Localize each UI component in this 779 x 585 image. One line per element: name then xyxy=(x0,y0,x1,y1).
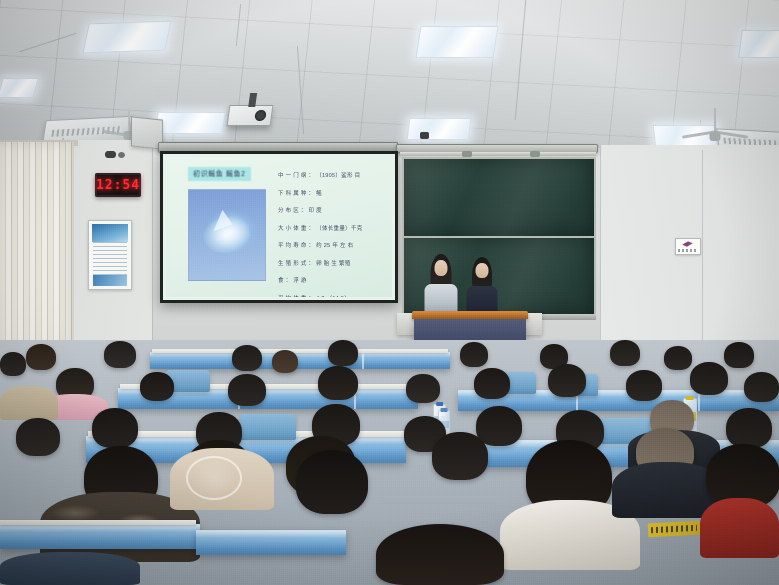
wall-corner-seam xyxy=(152,140,153,360)
hoodie-graphic-print xyxy=(186,456,242,500)
audience-head xyxy=(16,418,60,456)
exit-sign-arrow-icon xyxy=(682,241,693,246)
lecture-hall-photo: 12:54 初识鳐鱼 鳐鱼2 中 一 门 纲 ： （1905）鲨形 目 下 科 … xyxy=(0,0,779,585)
slide-title: 初识鳐鱼 鳐鱼2 xyxy=(188,167,251,181)
audience-head xyxy=(228,374,266,406)
slide-line: 大 小 体 重 ： （体长重量）千克 xyxy=(278,224,382,232)
blackboard-top-rail xyxy=(400,152,596,156)
ceiling-fan xyxy=(694,108,736,146)
bottle-cap xyxy=(441,408,448,412)
podium-worktop xyxy=(412,311,528,319)
security-camera-base xyxy=(118,152,125,158)
audience-head xyxy=(626,370,662,401)
exit-sign-text xyxy=(678,249,697,252)
ceiling-projector xyxy=(227,105,274,126)
slide-line-boxed: 分 布 区 ： 印 度 xyxy=(278,206,382,214)
ceiling-light-panel xyxy=(82,21,171,54)
desk-writing-surface xyxy=(152,349,448,353)
poster-header-band xyxy=(92,224,128,242)
ceiling-light-panel xyxy=(415,26,498,58)
tag-text xyxy=(651,525,697,533)
desk-writing-surface xyxy=(0,520,196,525)
audience-head-foreground xyxy=(296,450,368,514)
emergency-exit-sign xyxy=(675,238,701,255)
slide-line-boxed: 生 殖 形 式 ： 卵 胎 生 繁殖 xyxy=(278,259,382,267)
audience-head xyxy=(664,346,692,370)
vertical-window-blinds xyxy=(0,142,74,357)
audience-head xyxy=(272,350,298,373)
bottle-cap xyxy=(436,402,444,406)
slide-line: 平 均 体 重 ： 4.2 （14.5） xyxy=(278,294,382,298)
slide-line: 下 科 属 种 ： 鳐 xyxy=(278,189,382,197)
ceiling-light-panel xyxy=(738,30,779,58)
audience-head xyxy=(726,408,772,448)
clock-time-display: 12:54 xyxy=(96,178,140,193)
slide-line-label: 生 殖 形 式 ： 卵 胎 生 繁殖 xyxy=(278,261,351,267)
slide-photo-manta-ray xyxy=(188,189,266,281)
security-camera xyxy=(105,151,116,158)
ceiling-sensor xyxy=(420,132,429,139)
presenter-head xyxy=(435,260,448,276)
seat-back xyxy=(240,414,296,440)
presentation-slide: 初识鳐鱼 鳐鱼2 中 一 门 纲 ： （1905）鲨形 目 下 科 属 种 ： … xyxy=(166,157,392,297)
audience-head xyxy=(92,408,138,448)
presenter-right xyxy=(466,259,498,318)
audience-head-foreground xyxy=(432,432,488,480)
wall-corner-seam xyxy=(600,145,601,360)
audience-head xyxy=(744,372,779,402)
desk-edge-highlight xyxy=(150,353,450,357)
audience-head xyxy=(104,341,136,368)
ceiling-light-panel xyxy=(154,112,226,134)
wall-corner-seam xyxy=(702,150,703,350)
desk-seam xyxy=(362,353,364,369)
projector-mount xyxy=(248,93,257,107)
audience-head xyxy=(460,342,488,367)
yellow-id-tag xyxy=(648,521,701,538)
audience-head xyxy=(0,352,26,376)
wall-notice-poster xyxy=(88,220,132,290)
audience-head xyxy=(140,372,174,401)
ceiling-light-panel xyxy=(407,118,472,140)
front-bench-rail xyxy=(0,524,200,549)
ceiling-light-panel xyxy=(0,78,39,98)
audience-head xyxy=(548,364,586,397)
audience-shoulders xyxy=(0,386,58,420)
suspended-ceiling xyxy=(0,0,779,152)
audience-head xyxy=(724,342,754,368)
audience-head xyxy=(690,362,728,395)
poster-text-block xyxy=(93,242,127,276)
slide-line: 中 一 门 纲 ： （1905）鲨形 目 xyxy=(278,171,382,179)
audience-head xyxy=(318,366,358,400)
audience-shoulders-nearest xyxy=(0,552,140,585)
presenter-left xyxy=(424,256,458,318)
bottle-cap xyxy=(686,396,694,400)
front-bench-rail xyxy=(196,530,346,555)
slide-line: 平 均 寿 命 ： 约 25 年 左 右 xyxy=(278,241,382,249)
audience-head xyxy=(406,374,440,403)
desk-edge-highlight xyxy=(0,525,200,532)
presenter-head xyxy=(476,263,489,278)
audience-head xyxy=(328,340,358,366)
audience-head xyxy=(610,340,640,366)
slide-text-column: 中 一 门 纲 ： （1905）鲨形 目 下 科 属 种 ： 鳐 分 布 区 ：… xyxy=(278,171,382,297)
slide-line-label: 分 布 区 ： 印 度 xyxy=(278,208,322,214)
audience-head xyxy=(474,368,510,399)
audience-shoulders-red xyxy=(700,498,779,558)
digital-led-clock: 12:54 xyxy=(95,173,141,197)
projector-lens xyxy=(254,110,267,121)
audience-head xyxy=(232,345,262,371)
slide-line: 食 ： 浮 游 xyxy=(278,276,382,284)
audience-head xyxy=(26,344,56,370)
poster-footer-band xyxy=(93,275,127,286)
blackboard-panel-upper xyxy=(402,157,596,239)
desk-row-far xyxy=(150,352,450,369)
desk-edge-highlight xyxy=(196,531,346,538)
projection-screen: 初识鳐鱼 鳐鱼2 中 一 门 纲 ： （1905）鲨形 目 下 科 属 种 ： … xyxy=(160,151,398,303)
audience-head xyxy=(476,406,522,446)
audience-head-nearest xyxy=(376,524,504,585)
